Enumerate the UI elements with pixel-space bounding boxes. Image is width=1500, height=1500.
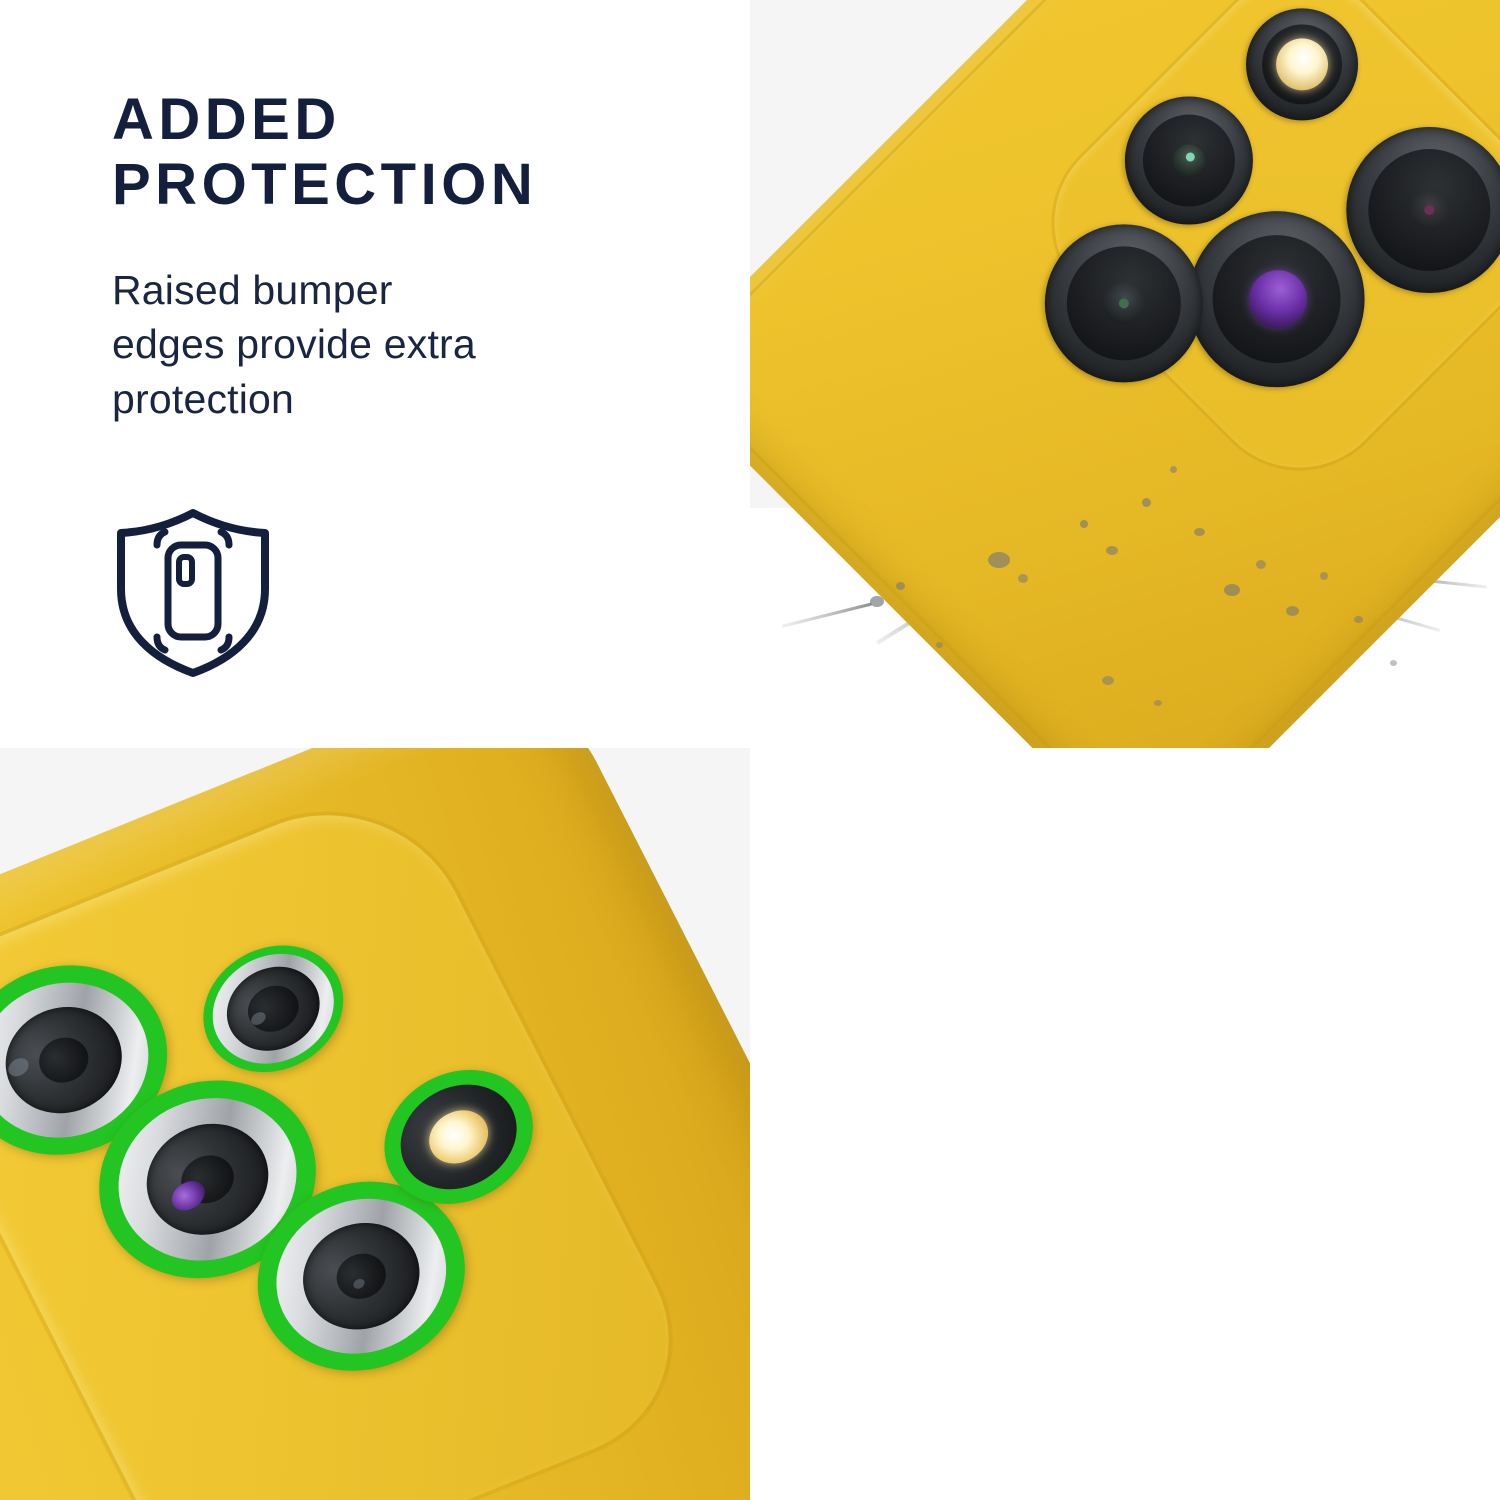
impact-debris [1106, 546, 1118, 555]
added-protection-subtext: Raised bumper edges provide extra protec… [112, 263, 692, 427]
added-protection-headline: ADDED PROTECTION [112, 88, 692, 218]
impact-debris [1224, 584, 1240, 596]
subtext-line-1: Raised bumper [112, 263, 692, 318]
drop-impact-scene [750, 0, 1500, 748]
impact-debris [1170, 466, 1177, 473]
headline-line-1: ADDED [112, 88, 692, 153]
impact-debris [1154, 700, 1162, 706]
camera-lens-depth [176, 919, 372, 1098]
subtext-line-2: edges provide extra [112, 317, 692, 372]
headline-line-2: PROTECTION [112, 153, 692, 218]
panel-drop-impact-photo [750, 0, 1500, 748]
impact-debris [1320, 572, 1328, 580]
impact-debris [1142, 498, 1151, 507]
panel-case-camera-photo [0, 748, 750, 1500]
added-protection-text-block: ADDED PROTECTION Raised bumper edges pro… [112, 88, 692, 426]
impact-debris [1102, 676, 1114, 685]
impact-debris [1018, 574, 1028, 583]
shield-phone-icon [108, 505, 278, 681]
panel-protects-camera: PROTECTS CAMERA Raised edges protect cam… [750, 748, 1500, 1500]
impact-debris [1286, 606, 1299, 616]
case-side-button [0, 1496, 37, 1500]
impact-debris [1080, 520, 1088, 528]
impact-debris [988, 552, 1010, 568]
shield-phone-icon-wrap [108, 505, 278, 681]
feature-grid: ADDED PROTECTION Raised bumper edges pro… [0, 0, 1500, 1500]
impact-debris [896, 582, 905, 590]
impact-debris [1194, 528, 1205, 536]
camera-flash [1223, 0, 1381, 144]
impact-debris [870, 596, 884, 607]
impact-debris [936, 642, 943, 648]
phone-case-bottom-left [0, 748, 750, 1500]
panel-added-protection: ADDED PROTECTION Raised bumper edges pro… [0, 0, 750, 748]
impact-debris [1354, 616, 1363, 623]
case-camera-scene [0, 748, 750, 1500]
impact-debris [1390, 660, 1397, 666]
subtext-line-3: protection [112, 372, 692, 427]
impact-debris [1256, 560, 1266, 569]
camera-module-pad [0, 776, 714, 1500]
